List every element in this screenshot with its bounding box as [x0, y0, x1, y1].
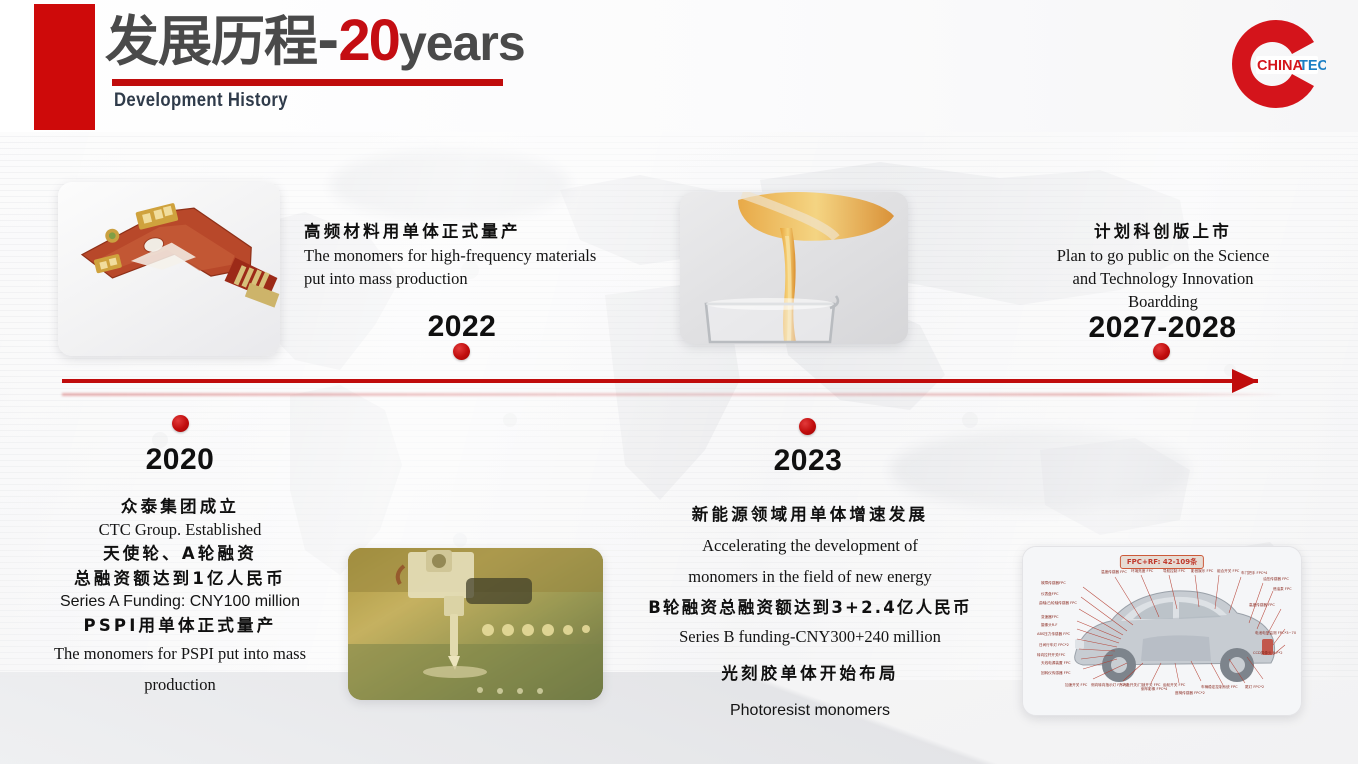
milestone-line: Series A Funding: CNY100 million [30, 591, 330, 613]
timeline-year-2023: 2023 [728, 444, 888, 478]
milestone-line: 新能源领域用单体增速发展 [616, 500, 1004, 530]
timeline-axis-shadow [62, 393, 1282, 396]
car-label: 组合开关 FPC [1217, 569, 1239, 573]
timeline-dot-2023[interactable] [799, 418, 816, 435]
timeline-dot-2020[interactable] [172, 415, 189, 432]
milestone-line: PSPI用单体正式量产 [30, 613, 330, 638]
milestone-line: 众泰集团成立 [30, 494, 330, 519]
image-monomer-pour [680, 192, 908, 344]
milestone-line: Photoresist monomers [616, 699, 1004, 723]
chinatech-logo: CHINA TECH [1226, 14, 1326, 114]
header-underline-rule [112, 79, 503, 86]
header-red-block [34, 4, 95, 130]
milestone-line: 光刻胶单体开始布局 [616, 649, 1004, 699]
car-label: 故障传感器FPC [1041, 581, 1066, 585]
car-label: 车门把手 FPC*4 [1241, 571, 1267, 575]
page-title: 发展历程-20years [105, 11, 525, 73]
timeline-dot-2027-2028[interactable] [1153, 343, 1170, 360]
milestone-line: Accelerating the development of [616, 530, 1004, 561]
car-label: 回转仪传感器 FPC [1041, 671, 1070, 675]
milestone-line: CTC Group. Established [30, 519, 330, 541]
page-title-years: years [399, 15, 525, 71]
car-label: 天线电源装置 FPC [1041, 661, 1070, 665]
car-label: 导航控制 FPC [1163, 569, 1185, 573]
milestone-line: The monomers for high-frequency material… [304, 244, 638, 267]
timeline-dot-2022[interactable] [453, 343, 470, 360]
car-label: 尾灯 FPC*2 [1245, 685, 1264, 689]
background-blotch-2 [890, 430, 1190, 510]
milestone-line: 总融资额达到1亿人民币 [30, 566, 330, 591]
milestone-text-2020: 众泰集团成立 CTC Group. Established 天使轮、A轮融资 总… [30, 494, 330, 700]
page-title-cn: 发展历程- [105, 10, 338, 73]
timeline-arrowhead-icon [1232, 369, 1258, 393]
logo-text-china: CHINA [1257, 58, 1303, 74]
timeline-axis [62, 379, 1258, 383]
car-label: CCD摄像头 R-F*2 [1253, 651, 1283, 655]
image-precision-machine [348, 548, 603, 700]
image-fpc-board [58, 182, 280, 356]
milestone-line: put into mass production [304, 267, 638, 290]
timeline-year-2022: 2022 [382, 310, 542, 344]
milestone-text-2022: 高频材料用单体正式量产 The monomers for high-freque… [304, 219, 638, 290]
slide-root: 发展历程-20years Development History CHINA T… [0, 0, 1358, 764]
milestone-line: Boardding [1034, 290, 1292, 313]
milestone-line: monomers in the field of new energy [616, 561, 1004, 592]
milestone-line: and Technology Innovation [1034, 267, 1292, 290]
car-label: 倒车影像 FPC*4 [1141, 687, 1167, 691]
car-label: 车辆稳定控制系统 FPC [1201, 685, 1238, 689]
milestone-line: 高频材料用单体正式量产 [304, 219, 638, 244]
timeline-year-2027-2028: 2027-2028 [1080, 311, 1245, 345]
milestone-line: production [30, 669, 330, 700]
car-label: 仪表盘FPC [1041, 592, 1059, 596]
car-label: 加速开关 FPC [1065, 683, 1087, 687]
car-label: 日间行车灯 FPC*2 [1039, 643, 1069, 647]
car-label: 变速器FPC [1041, 615, 1059, 619]
image-car-fpc-diagram: FPC+RF: 42-109条 温度传感器 FPC 环境亮度 FPC 导航控制 … [1022, 546, 1302, 716]
milestone-line: B轮融资总融资额达到3+2.4亿人民币 [616, 592, 1004, 624]
timeline-year-2020: 2020 [100, 443, 260, 477]
car-diagram-badge: FPC+RF: 42-109条 [1120, 555, 1204, 569]
car-label: 摄像头R-F [1041, 623, 1058, 627]
car-label: 环境亮度 FPC [1131, 569, 1153, 573]
background-blotch-1 [330, 150, 570, 220]
milestone-line: Plan to go public on the Science [1034, 244, 1292, 267]
page-subtitle: Development History [114, 90, 288, 112]
car-label: 座椅传感器 FPC*2 [1175, 691, 1205, 695]
car-label: 曲轴/凸轮轴传感器 FPC [1039, 601, 1077, 605]
car-label: 齿轮开关 FPC [1163, 683, 1185, 687]
milestone-line: The monomers for PSPI put into mass [30, 638, 330, 669]
milestone-line: Series B funding-CNY300+240 million [616, 624, 1004, 649]
car-label: 燃油泵 FPC [1273, 587, 1292, 591]
car-label: 温度传感器 FPC [1101, 570, 1127, 574]
milestone-text-2027-2028: 计划科创版上市 Plan to go public on the Science… [1034, 219, 1292, 313]
car-label: 高度传感器 FPC [1249, 603, 1275, 607]
logo-text-tech: TECH [1299, 58, 1326, 74]
car-label: 转向拉杆开关FPC [1037, 653, 1065, 657]
car-label: 油压传感器 FPC [1263, 577, 1289, 581]
car-label: 影音娱乐 FPC [1191, 569, 1213, 573]
milestone-line: 计划科创版上市 [1034, 219, 1292, 244]
milestone-line: 天使轮、A轮融资 [30, 541, 330, 566]
car-label: 电池电压监测 FPC*3~70 [1255, 631, 1296, 635]
milestone-text-2023: 新能源领域用单体增速发展 Accelerating the developmen… [616, 500, 1004, 723]
car-label: ABS压力传感器 FPC [1037, 632, 1070, 636]
page-title-number: 20 [338, 8, 399, 73]
